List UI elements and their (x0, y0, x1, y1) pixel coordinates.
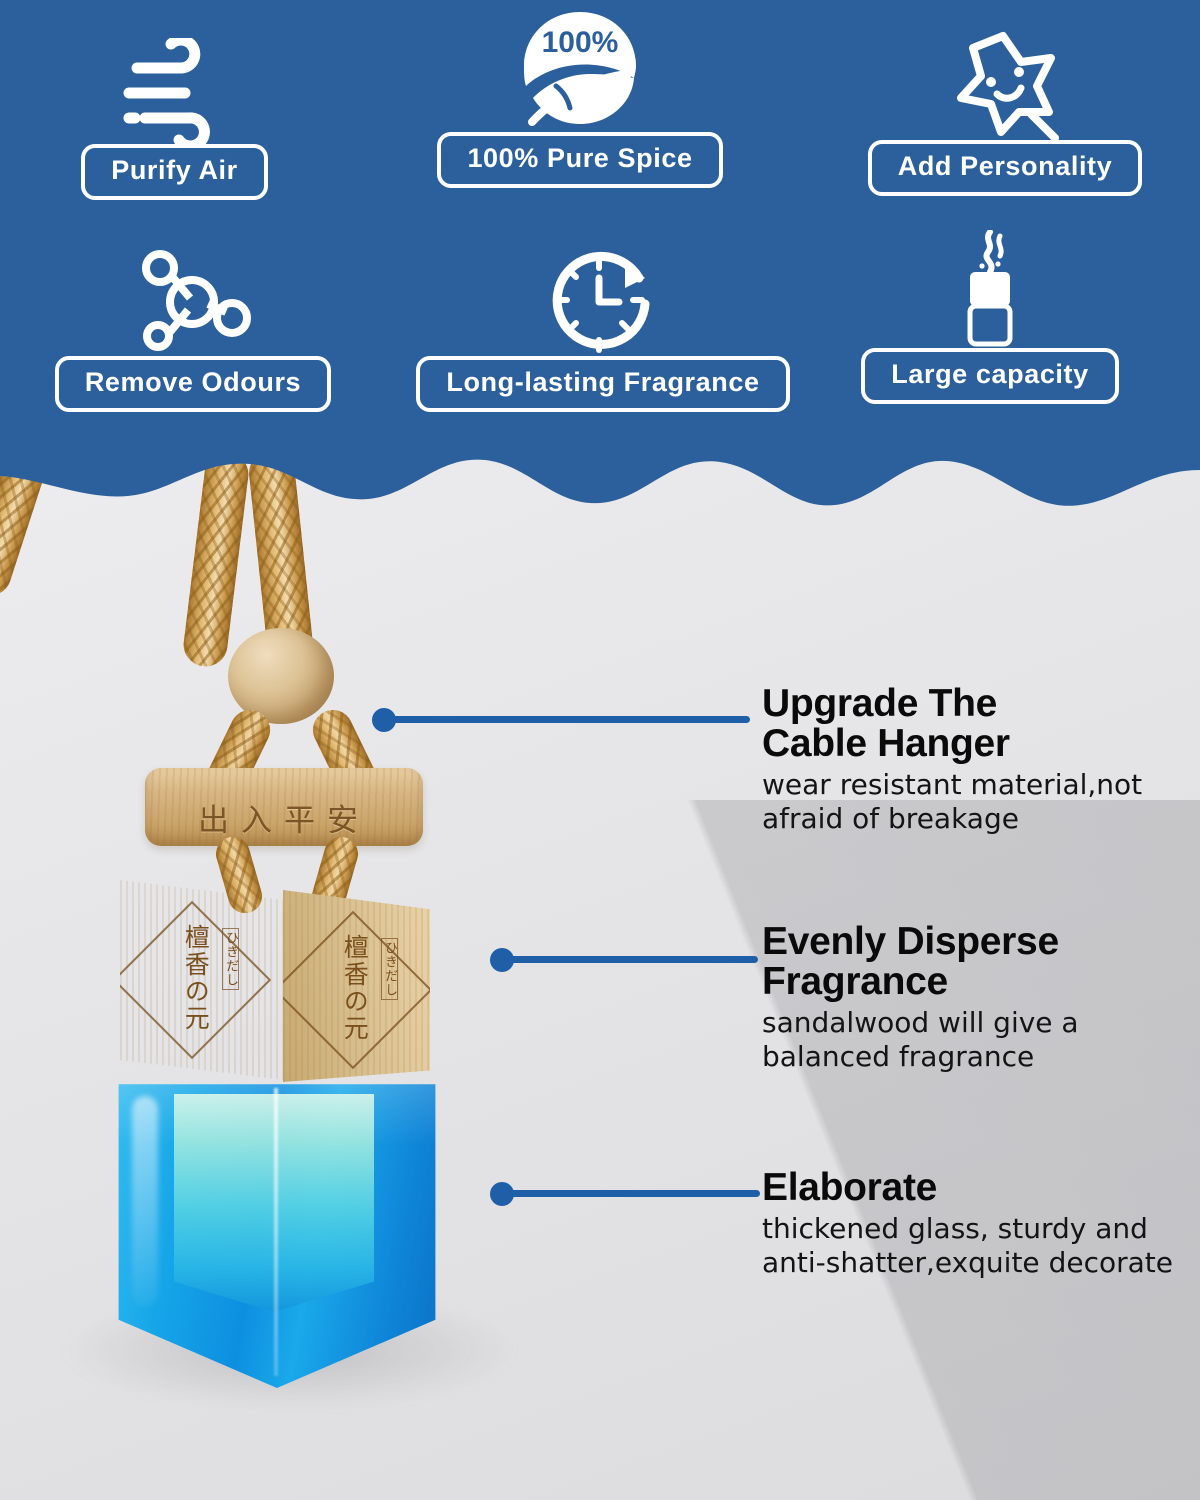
callout-subtitle-1: wear resistant material,not afraid of br… (762, 768, 1182, 836)
bottle-highlight (132, 1096, 158, 1306)
molecule-icon (134, 236, 252, 356)
feature-remove-odours: Remove Odours (28, 236, 358, 412)
bottle-front-edge (274, 1088, 278, 1376)
callout-title-2: Evenly Disperse Fragrance (762, 922, 1192, 1002)
glass-bottle (112, 1078, 442, 1388)
wooden-crossbar: 出入平安 (145, 768, 423, 846)
callout-text-1: Upgrade The Cable Hanger wear resistant … (762, 684, 1182, 836)
feature-purify-air: Purify Air (42, 24, 307, 200)
crossbar-engraving: 出入平安 (145, 795, 423, 840)
cap-face-right: 檀香の元 ひきだし (283, 890, 430, 1082)
callout-title-3: Elaborate (762, 1168, 1182, 1208)
feature-label-purify-air[interactable]: Purify Air (81, 144, 268, 200)
feature-pure-spice: 100% 100% Pure Spice (420, 12, 740, 188)
clock-refresh-icon (547, 236, 659, 356)
callout-line-1 (390, 716, 750, 723)
feature-add-personality: Add Personality (840, 20, 1170, 196)
leaf-100-icon: 100% (516, 12, 644, 132)
feature-label-pure-spice[interactable]: 100% Pure Spice (437, 132, 722, 188)
feature-large-capacity: Large capacity (840, 228, 1140, 404)
callout-text-2: Evenly Disperse Fragrance sandalwood wil… (762, 922, 1192, 1074)
callout-line-3 (508, 1190, 760, 1197)
cap-engraving-right: 檀香の元 (341, 934, 367, 1042)
callout-subtitle-3: thickened glass, sturdy and anti-shatter… (762, 1212, 1182, 1280)
diffuser-bottle-icon (952, 228, 1028, 348)
product-infographic: 出入平安 檀香の元 ひきだし 檀香の元 ひきだし (0, 0, 1200, 1500)
callout-title-1: Upgrade The Cable Hanger (762, 684, 1182, 764)
cap-engraving-small-right: ひきだし (381, 938, 398, 1000)
callout-line-2 (508, 956, 758, 963)
callout-subtitle-2: sandalwood will give a balanced fragranc… (762, 1006, 1192, 1074)
leaf-icon-percent-text: 100% (542, 26, 619, 59)
wind-icon (119, 24, 231, 144)
cap-engraving-left: 檀香の元 (182, 924, 208, 1032)
feature-label-remove-odours[interactable]: Remove Odours (55, 356, 331, 412)
feature-long-lasting: Long-lasting Fragrance (388, 236, 818, 412)
callout-text-3: Elaborate thickened glass, sturdy and an… (762, 1168, 1182, 1280)
feature-label-long-lasting[interactable]: Long-lasting Fragrance (416, 356, 789, 412)
feature-label-large-capacity[interactable]: Large capacity (861, 348, 1119, 404)
magic-star-icon (945, 20, 1065, 140)
feature-grid: Purify Air 100% 100% Pure Spice (0, 0, 1200, 470)
cap-engraving-small-left: ひきだし (222, 928, 239, 990)
cap-face-left: 檀香の元 ひきだし (120, 880, 284, 1080)
wooden-cap: 檀香の元 ひきだし 檀香の元 ひきだし (120, 866, 430, 1082)
feature-label-add-personality[interactable]: Add Personality (868, 140, 1143, 196)
